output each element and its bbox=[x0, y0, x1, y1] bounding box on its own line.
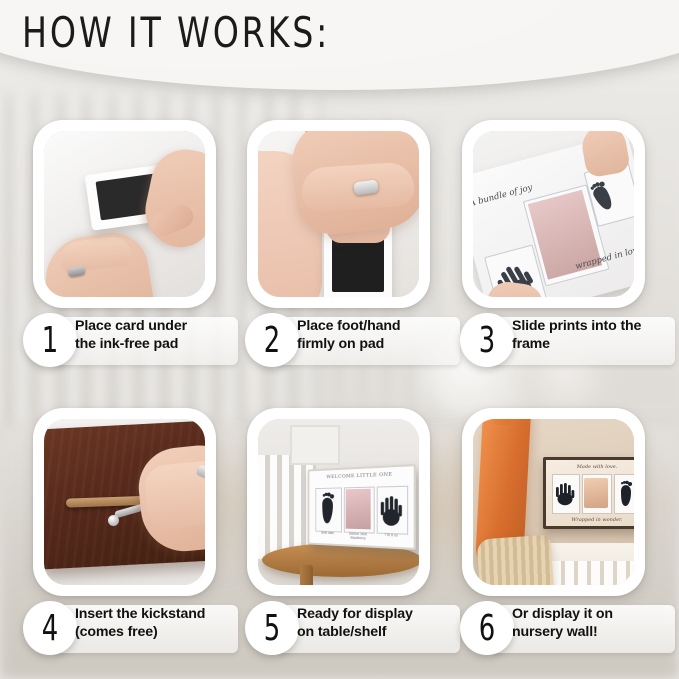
step-1-number-badge: 1 bbox=[23, 313, 77, 367]
frame-caption-left: Birth date bbox=[315, 531, 340, 536]
photo-card: Made with love. bbox=[462, 408, 645, 596]
step-4-number-badge: 4 bbox=[23, 601, 77, 655]
step-6-label-text: Or display it on nursery wall! bbox=[512, 606, 679, 641]
step-1-label-row: 1 Place card under the ink-free pad bbox=[23, 313, 243, 369]
step-6-label-line1: Or display it on bbox=[512, 606, 679, 624]
step-5-label-row: 5 Ready for display on table/shelf bbox=[245, 601, 465, 657]
step-1-number: 1 bbox=[28, 313, 71, 367]
photo-card bbox=[247, 120, 430, 308]
step-5-photo: WELCOME LITTLE ONE bbox=[258, 419, 419, 585]
wall-frame-script-top: Made with love. bbox=[546, 464, 634, 470]
handprint-art bbox=[555, 480, 575, 506]
step-6-number: 6 bbox=[465, 601, 508, 655]
photo-card-inner: WELCOME LITTLE ONE bbox=[258, 419, 419, 585]
step-6-label-line2: nursery wall! bbox=[512, 624, 679, 642]
frame-caption-right: 7 lb 8 oz bbox=[377, 533, 406, 538]
step-2-number-badge: 2 bbox=[245, 313, 299, 367]
handprint-art bbox=[380, 490, 403, 528]
step-2-label-row: 2 Place foot/hand firmly on pad bbox=[245, 313, 465, 369]
step-1-photo bbox=[44, 131, 205, 297]
photo-card: WELCOME LITTLE ONE bbox=[247, 408, 430, 596]
step-3-label-line2: frame bbox=[512, 336, 679, 354]
wall-frame-script-bottom: Wrapped in wonder. bbox=[546, 517, 634, 523]
how-it-works-infographic: HOW IT WORKS: 1 Place bbox=[0, 0, 679, 679]
step-4-number: 4 bbox=[28, 601, 71, 655]
photo-card: A bundle of joy bbox=[462, 120, 645, 308]
photo-card-inner bbox=[44, 419, 205, 585]
step-1-label-line1: Place card under bbox=[75, 318, 243, 336]
step-5-label-line2: on table/shelf bbox=[297, 624, 465, 642]
step-2-label-line2: firmly on pad bbox=[297, 336, 465, 354]
photo-card-inner: Made with love. bbox=[473, 419, 634, 585]
step-4-label-line1: Insert the kickstand bbox=[75, 606, 243, 624]
step-2-label-line1: Place foot/hand bbox=[297, 318, 465, 336]
steps-grid: 1 Place card under the ink-free pad bbox=[0, 0, 679, 679]
step-3-label-line1: Slide prints into the bbox=[512, 318, 679, 336]
step-3-label-text: Slide prints into the frame bbox=[512, 318, 679, 353]
footprint-art bbox=[319, 491, 337, 526]
step-3-number: 3 bbox=[465, 313, 508, 367]
step-1-label-text: Place card under the ink-free pad bbox=[75, 318, 243, 353]
step-6-number-badge: 6 bbox=[460, 601, 514, 655]
footprint-art bbox=[617, 480, 634, 508]
step-2-number: 2 bbox=[250, 313, 293, 367]
step-4-label-row: 4 Insert the kickstand (comes free) bbox=[23, 601, 243, 657]
step-2-label-text: Place foot/hand firmly on pad bbox=[297, 318, 465, 353]
photo-card-inner bbox=[44, 131, 205, 297]
step-1-label-line2: the ink-free pad bbox=[75, 336, 243, 354]
step-4-label-text: Insert the kickstand (comes free) bbox=[75, 606, 243, 641]
step-4-label-line2: (comes free) bbox=[75, 624, 243, 642]
step-5-number: 5 bbox=[250, 601, 293, 655]
step-6-label-row: 6 Or display it on nursery wall! bbox=[460, 601, 679, 657]
frame-caption-center: Ashton Jane Blackberry bbox=[342, 531, 375, 540]
step-6-photo: Made with love. bbox=[473, 419, 634, 585]
step-5-label-line1: Ready for display bbox=[297, 606, 465, 624]
photo-card bbox=[33, 408, 216, 596]
photo-card bbox=[33, 120, 216, 308]
step-3-photo: A bundle of joy bbox=[473, 131, 634, 297]
step-5-number-badge: 5 bbox=[245, 601, 299, 655]
step-3-label-row: 3 Slide prints into the frame bbox=[460, 313, 679, 369]
frame-title-welcome: WELCOME LITTLE ONE bbox=[309, 471, 413, 481]
step-3-number-badge: 3 bbox=[460, 313, 514, 367]
step-4-photo bbox=[44, 419, 205, 585]
step-5-label-text: Ready for display on table/shelf bbox=[297, 606, 465, 641]
step-2-photo bbox=[258, 131, 419, 297]
photo-card-inner bbox=[258, 131, 419, 297]
photo-card-inner: A bundle of joy bbox=[473, 131, 634, 297]
